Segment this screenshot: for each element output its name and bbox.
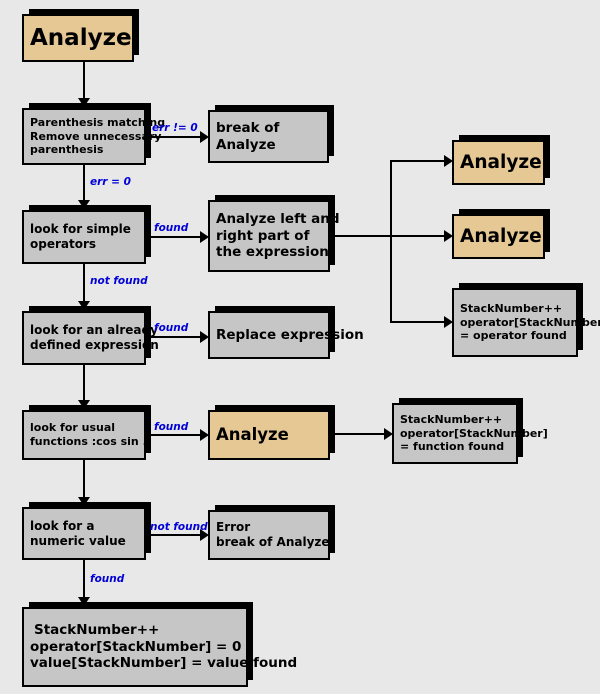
edge-root-to-parenthesis — [83, 62, 85, 100]
arrowhead-numeric-value-to-stack-value — [78, 597, 90, 606]
node-analyze-function[interactable]: Analyze — [208, 410, 330, 460]
edge-numeric-value-to-stack-value — [83, 560, 85, 599]
node-numeric-value-line-1: numeric value — [30, 534, 138, 549]
edge-usual-functions-to-analyze — [146, 434, 202, 436]
node-stack-value-line-2: value[StackNumber] = value found — [30, 655, 240, 672]
edge-label-found-3: found — [154, 421, 188, 433]
node-stack-function-line-1: operator[StackNumber] — [400, 427, 510, 441]
edge-label-found-1: found — [154, 222, 188, 234]
node-analyze-root[interactable]: Analyze — [22, 14, 134, 62]
flowchart-canvas: Analyze Parenthesis matching Remove unne… — [0, 0, 600, 694]
node-look-for-defined-expression[interactable]: look for an already defined expression — [22, 311, 146, 365]
node-stack-operator-found[interactable]: StackNumber++ operator[StackNumber] = op… — [452, 288, 578, 357]
edge-numeric-value-to-error — [146, 534, 202, 536]
node-analyze-parts-line-1: right part of — [216, 228, 322, 245]
edge-simple-ops-to-analyze-parts — [146, 236, 202, 238]
node-defined-expr-line-0: look for an already — [30, 323, 138, 338]
arrowhead-root-to-parenthesis — [78, 98, 90, 107]
edge-analyze-parts-trunk-h — [330, 235, 392, 237]
node-analyze-right[interactable]: Analyze — [452, 214, 545, 259]
node-stack-function-line-0: StackNumber++ — [400, 413, 510, 427]
edge-analyze-parts-trunk-v — [390, 160, 392, 323]
node-error-break-line-0: Error — [216, 520, 322, 535]
node-stack-function-line-2: = function found — [400, 440, 510, 454]
edge-simple-ops-to-defined-expr — [83, 264, 85, 303]
arrowhead-usual-functions-to-numeric-value — [78, 497, 90, 506]
node-stack-value-line-1: operator[StackNumber] = 0 — [30, 639, 240, 656]
node-look-for-usual-functions[interactable]: look for usual functions :cos sin .. — [22, 410, 146, 460]
arrowhead-simple-ops-to-defined-expr — [78, 301, 90, 310]
arrowhead-parenthesis-to-simple-ops — [78, 200, 90, 209]
node-usual-functions-line-1: functions :cos sin .. — [30, 435, 138, 449]
node-parenthesis-line-2: parenthesis — [30, 143, 138, 157]
edge-defined-expr-to-replace — [146, 336, 202, 338]
node-simple-ops-line-0: look for simple — [30, 222, 138, 237]
node-analyze-parts-line-2: the expression — [216, 244, 322, 261]
edge-trunk-to-analyze-right — [390, 235, 446, 237]
node-stack-function-found[interactable]: StackNumber++ operator[StackNumber] = fu… — [392, 403, 518, 464]
edge-label-found-2: found — [154, 322, 188, 334]
node-analyze-root-line-0: Analyze — [30, 24, 126, 53]
edge-parenthesis-to-break — [146, 136, 202, 138]
node-break-of-analyze[interactable]: break of Analyze — [208, 110, 329, 163]
node-look-for-simple-operators[interactable]: look for simple operators — [22, 210, 146, 264]
node-parenthesis-line-1: Remove unnecessary — [30, 130, 138, 144]
edge-parenthesis-to-simple-ops — [83, 165, 85, 202]
node-analyze-right-line-0: Analyze — [460, 225, 537, 248]
node-break-line-1: Analyze — [216, 137, 321, 154]
edge-usual-functions-to-numeric-value — [83, 460, 85, 499]
node-error-break-of-analyze[interactable]: Error break of Analyze — [208, 510, 330, 560]
node-usual-functions-line-0: look for usual — [30, 421, 138, 435]
node-stack-operator-line-2: = operator found — [460, 329, 570, 343]
node-analyze-left[interactable]: Analyze — [452, 140, 545, 185]
arrowhead-defined-expr-to-usual-functions — [78, 400, 90, 409]
node-look-for-numeric-value[interactable]: look for a numeric value — [22, 507, 146, 560]
node-break-line-0: break of — [216, 120, 321, 137]
edge-trunk-to-analyze-left — [390, 160, 446, 162]
node-analyze-parts-line-0: Analyze left and — [216, 211, 322, 228]
node-stack-value-found[interactable]: StackNumber++ operator[StackNumber] = 0 … — [22, 607, 248, 687]
edge-label-err-ne-0: err != 0 — [152, 122, 198, 134]
node-error-break-line-1: break of Analyze — [216, 535, 322, 550]
node-parenthesis-line-0: Parenthesis matching — [30, 116, 138, 130]
edge-defined-expr-to-usual-functions — [83, 365, 85, 402]
node-analyze-left-right-part[interactable]: Analyze left and right part of the expre… — [208, 200, 330, 272]
edge-trunk-to-stack-operator — [390, 321, 446, 323]
node-replace-expression[interactable]: Replace expression — [208, 311, 330, 359]
node-numeric-value-line-0: look for a — [30, 519, 138, 534]
edge-label-not-found-2: not found — [150, 521, 208, 533]
node-analyze-function-line-0: Analyze — [216, 425, 322, 446]
node-stack-operator-line-1: operator[StackNumber] — [460, 316, 570, 330]
edge-label-err-eq-0: err = 0 — [90, 176, 131, 188]
edge-label-not-found-1: not found — [90, 275, 148, 287]
node-stack-operator-line-0: StackNumber++ — [460, 302, 570, 316]
edge-analyze-function-to-stack-function — [330, 433, 386, 435]
node-replace-expr-line-0: Replace expression — [216, 327, 322, 344]
edge-label-found-4: found — [90, 573, 124, 585]
node-analyze-left-line-0: Analyze — [460, 151, 537, 174]
node-simple-ops-line-1: operators — [30, 237, 138, 252]
node-parenthesis-matching[interactable]: Parenthesis matching Remove unnecessary … — [22, 108, 146, 165]
node-defined-expr-line-1: defined expression — [30, 338, 138, 353]
node-stack-value-line-0: StackNumber++ — [34, 622, 240, 639]
